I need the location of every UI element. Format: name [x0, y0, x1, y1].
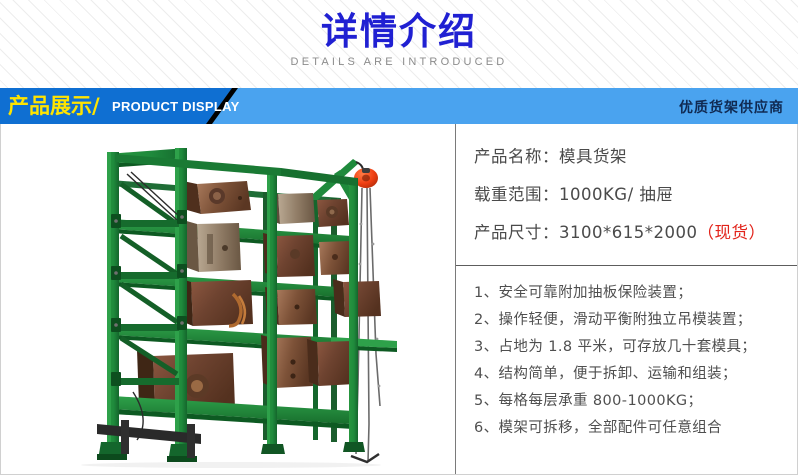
spec-row-load: 载重范围：1000KG/ 抽屉	[474, 176, 797, 214]
banner-tagline: 优质货架供应商	[679, 97, 784, 117]
spec-row-size: 产品尺寸：3100*615*2000（现货）	[474, 214, 797, 252]
spec-label-name: 产品名称：	[474, 147, 559, 166]
product-image-pane	[1, 124, 456, 474]
feature-item: 4、结构简单，便于拆卸、运输和组装；	[474, 361, 797, 388]
feature-item: 3、占地为 1.8 平米，可存放几十套模具；	[474, 334, 797, 361]
product-display-banner: 产品展示/ PRODUCT DISPLAY 优质货架供应商	[0, 88, 798, 124]
feature-item: 5、每格每层承重 800-1000KG；	[474, 388, 797, 415]
feature-item: 2、操作轻便，滑动平衡附独立吊模装置；	[474, 307, 797, 334]
feature-item: 6、模架可拆移，全部配件可任意组合	[474, 415, 797, 442]
product-photo	[1, 124, 456, 473]
product-feature-list: 1、安全可靠附加抽板保险装置； 2、操作轻便，滑动平衡附独立吊模装置； 3、占地…	[456, 266, 797, 442]
banner-title-cn: 产品展示/	[8, 94, 100, 118]
spec-value-size: 3100*615*2000	[559, 223, 697, 242]
spec-row-name: 产品名称：模具货架	[474, 138, 797, 176]
banner-title-en: PRODUCT DISPLAY	[112, 99, 240, 114]
banner-title-cn-text: 产品展示	[8, 94, 92, 118]
page-title: 详情介绍	[321, 10, 477, 54]
product-spec-block: 产品名称：模具货架 载重范围：1000KG/ 抽屉 产品尺寸：3100*615*…	[456, 124, 797, 266]
banner-separator: /	[92, 94, 100, 118]
stock-badge: （现货）	[697, 223, 765, 242]
product-info-pane: 产品名称：模具货架 载重范围：1000KG/ 抽屉 产品尺寸：3100*615*…	[456, 124, 797, 474]
spec-label-size: 产品尺寸：	[474, 223, 559, 242]
page-subtitle: DETAILS ARE INTRODUCED	[291, 56, 508, 68]
spec-value-load: 1000KG/ 抽屉	[559, 185, 673, 204]
spec-value-name: 模具货架	[559, 147, 627, 166]
spec-label-load: 载重范围：	[474, 185, 559, 204]
content-frame: 产品名称：模具货架 载重范围：1000KG/ 抽屉 产品尺寸：3100*615*…	[0, 124, 798, 475]
page-title-band: 详情介绍 DETAILS ARE INTRODUCED	[0, 0, 798, 88]
feature-item: 1、安全可靠附加抽板保险装置；	[474, 280, 797, 307]
product-detail-page: 详情介绍 DETAILS ARE INTRODUCED 产品展示/ PRODUC…	[0, 0, 798, 475]
